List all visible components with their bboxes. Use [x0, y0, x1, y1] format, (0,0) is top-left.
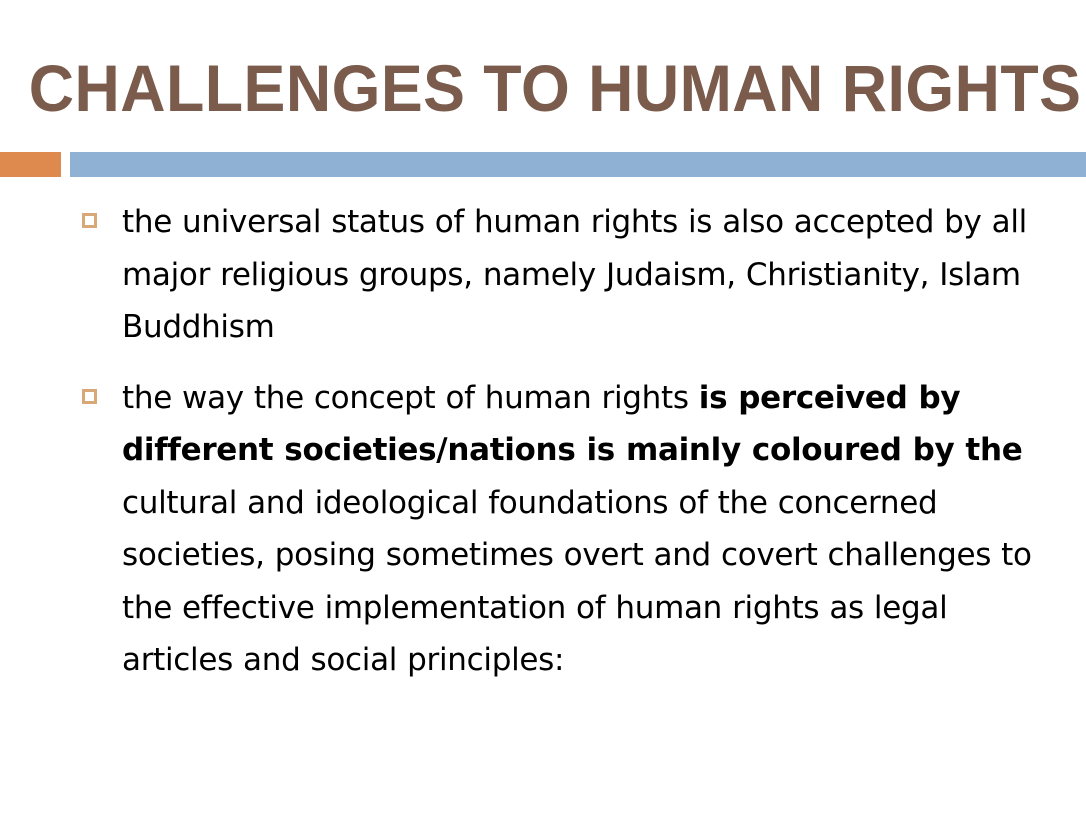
body-content: the universal status of human rights is …: [78, 196, 1038, 687]
list-item-text: the universal status of human rights is …: [122, 196, 1038, 354]
page-title: CHALLENGES TO HUMAN RIGHTS: [29, 55, 1082, 121]
text-run: the way the concept of human rights: [122, 380, 699, 416]
divider-bar-blue: [70, 152, 1086, 177]
slide-canvas: CHALLENGES TO HUMAN RIGHTS the universal…: [0, 0, 1086, 814]
list-item: the universal status of human rights is …: [78, 196, 1038, 354]
accent-block-orange: [0, 152, 61, 177]
list-item: the way the concept of human rights is p…: [78, 372, 1038, 687]
hollow-square-bullet-icon: [82, 389, 97, 404]
hollow-square-bullet-icon: [82, 213, 97, 228]
title-container: CHALLENGES TO HUMAN RIGHTS: [60, 42, 1050, 134]
list-item-text: the way the concept of human rights is p…: [122, 372, 1038, 687]
text-run: cultural and ideological foundations of …: [122, 485, 1032, 679]
